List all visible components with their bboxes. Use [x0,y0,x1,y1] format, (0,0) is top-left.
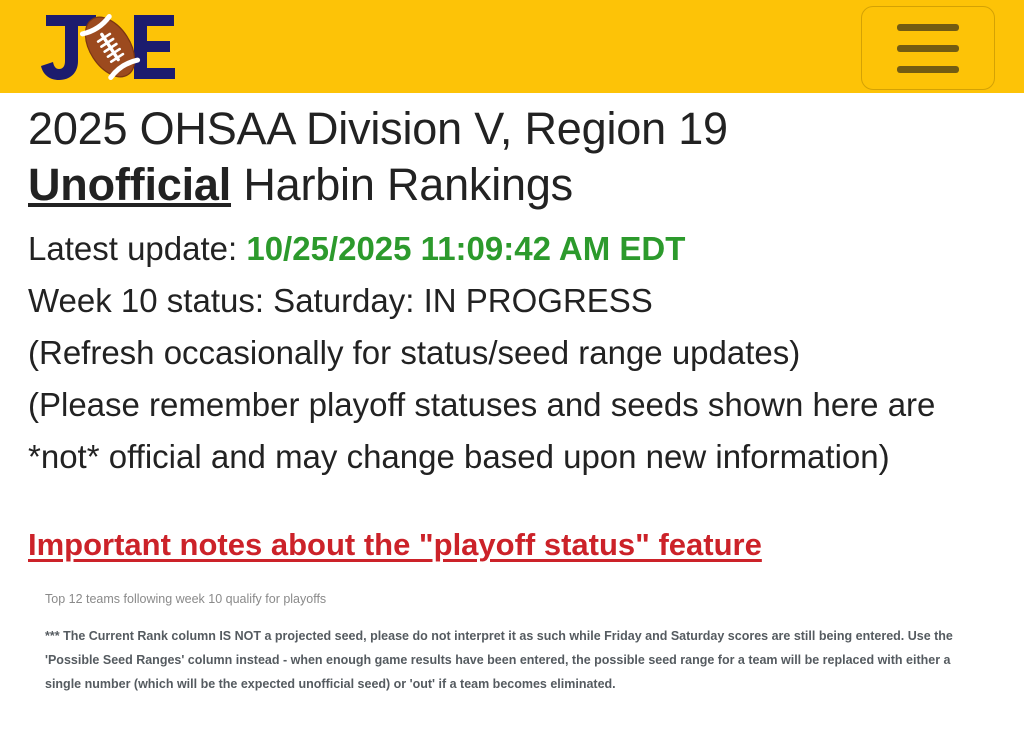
status-block: Latest update: 10/25/2025 11:09:42 AM ED… [28,213,996,483]
fineprint-section: Top 12 teams following week 10 qualify f… [0,565,1024,696]
week-status-row: Week 10 status: Saturday: IN PROGRESS [28,275,996,327]
page-title-line-2-rest: Harbin Rankings [231,159,573,210]
playoff-status-notes-link[interactable]: Important notes about the "playoff statu… [28,483,762,565]
hamburger-line-bottom [897,66,959,73]
page-title-line-1: 2025 OHSAA Division V, Region 19 [28,103,728,154]
official-disclaimer-row: (Please remember playoff statuses and se… [28,379,996,483]
latest-update-label: Latest update: [28,230,246,267]
page-title-unofficial: Unofficial [28,159,231,210]
latest-update-row: Latest update: 10/25/2025 11:09:42 AM ED… [28,223,996,275]
current-rank-disclaimer: *** The Current Rank column IS NOT a pro… [45,608,996,696]
hamburger-line-middle [897,45,959,52]
hamburger-menu-button[interactable] [861,6,995,90]
refresh-note-row: (Refresh occasionally for status/seed ra… [28,327,996,379]
joe-football-logo[interactable] [34,11,184,83]
main-content: 2025 OHSAA Division V, Region 19 Unoffic… [0,93,1024,565]
hamburger-line-top [897,24,959,31]
latest-update-timestamp: 10/25/2025 11:09:42 AM EDT [246,230,685,267]
page-title: 2025 OHSAA Division V, Region 19 Unoffic… [28,93,996,213]
site-header [0,0,1024,93]
qualify-note: Top 12 teams following week 10 qualify f… [45,565,996,608]
